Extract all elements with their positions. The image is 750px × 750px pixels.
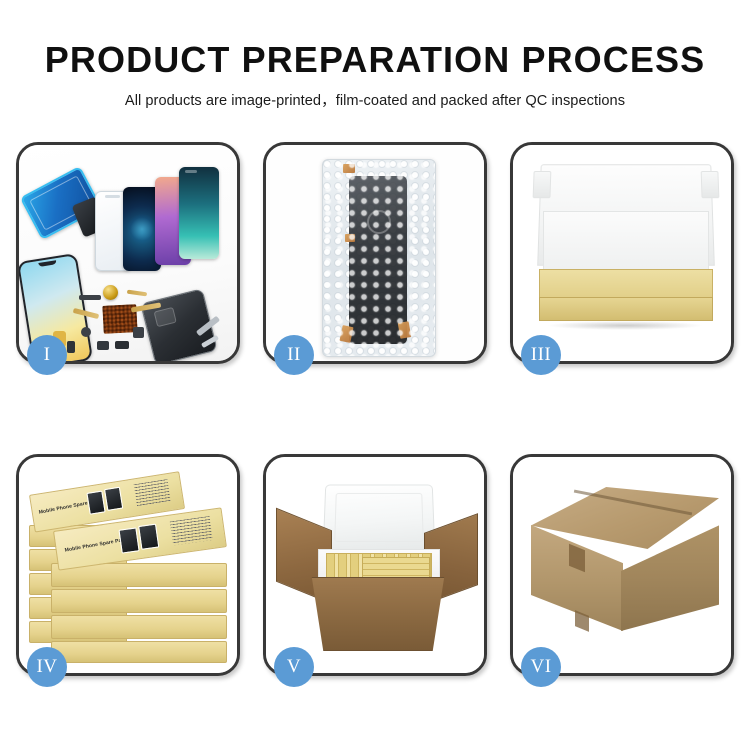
process-step-panel-1[interactable]: I xyxy=(16,142,240,364)
flex-cable-short-icon xyxy=(127,290,147,297)
carton-body-icon xyxy=(306,577,450,651)
step-5-illustration xyxy=(266,457,484,673)
yellow-box-front-icon xyxy=(539,297,713,321)
box-phone-image-icon xyxy=(86,490,105,514)
tape-piece-top-icon xyxy=(343,164,355,173)
tape-piece-mid-icon xyxy=(345,234,355,242)
component-bar-icon xyxy=(79,295,101,300)
component-round-icon xyxy=(81,327,91,337)
step-1-illustration xyxy=(19,145,237,361)
step-2-illustration xyxy=(266,145,484,361)
step-badge-6: VI xyxy=(521,647,561,687)
step-badge-2: II xyxy=(274,335,314,375)
stacked-box-icon xyxy=(51,641,227,663)
step-3-illustration xyxy=(513,145,731,361)
process-step-panel-3[interactable]: III xyxy=(510,142,734,364)
box-phone-image-icon xyxy=(118,527,139,553)
step-badge-3: III xyxy=(521,335,561,375)
infographic-page: PRODUCT PREPARATION PROCESS All products… xyxy=(0,0,750,750)
box-phone-image-icon xyxy=(104,487,123,511)
box-phone-image-icon xyxy=(138,524,159,550)
foam-lid-icon xyxy=(323,485,436,552)
bubble-wrap-bag-icon xyxy=(322,159,436,357)
step-4-illustration: Mobile Phone Spare Parts Mobile Phone Sp… xyxy=(19,457,237,673)
box-spec-lines-icon xyxy=(134,479,171,506)
process-step-panel-2[interactable]: II xyxy=(263,142,487,364)
phone-display-teal-icon xyxy=(179,167,219,259)
process-step-panel-5[interactable]: V xyxy=(263,454,487,676)
stacked-box-icon xyxy=(51,615,227,639)
component-connector-icon xyxy=(97,341,109,350)
component-chip-icon xyxy=(67,341,75,353)
process-step-panel-6[interactable]: VI xyxy=(510,454,734,676)
stacked-box-icon xyxy=(51,589,227,613)
box-stack-icon: Mobile Phone Spare Parts Mobile Phone Sp… xyxy=(29,479,229,659)
component-socket-icon xyxy=(115,341,129,349)
page-subtitle: All products are image-printed，film-coat… xyxy=(0,79,750,110)
wrapped-part-icon xyxy=(349,176,407,344)
header: PRODUCT PREPARATION PROCESS All products… xyxy=(0,0,750,110)
page-title: PRODUCT PREPARATION PROCESS xyxy=(0,0,750,79)
step-badge-4: IV xyxy=(27,647,67,687)
process-step-panel-4[interactable]: Mobile Phone Spare Parts Mobile Phone Sp… xyxy=(16,454,240,676)
component-camera-icon xyxy=(133,327,144,338)
process-step-grid: I II xyxy=(16,142,734,676)
foam-sheet-icon xyxy=(543,211,709,275)
box-shadow-icon xyxy=(547,321,703,330)
step-badge-1: I xyxy=(27,335,67,375)
box-spec-lines-icon xyxy=(170,516,213,545)
step-6-illustration xyxy=(513,457,731,673)
step-badge-5: V xyxy=(274,647,314,687)
tape-piece-bottom-right-icon xyxy=(398,321,412,339)
speaker-coil-icon xyxy=(103,285,118,300)
